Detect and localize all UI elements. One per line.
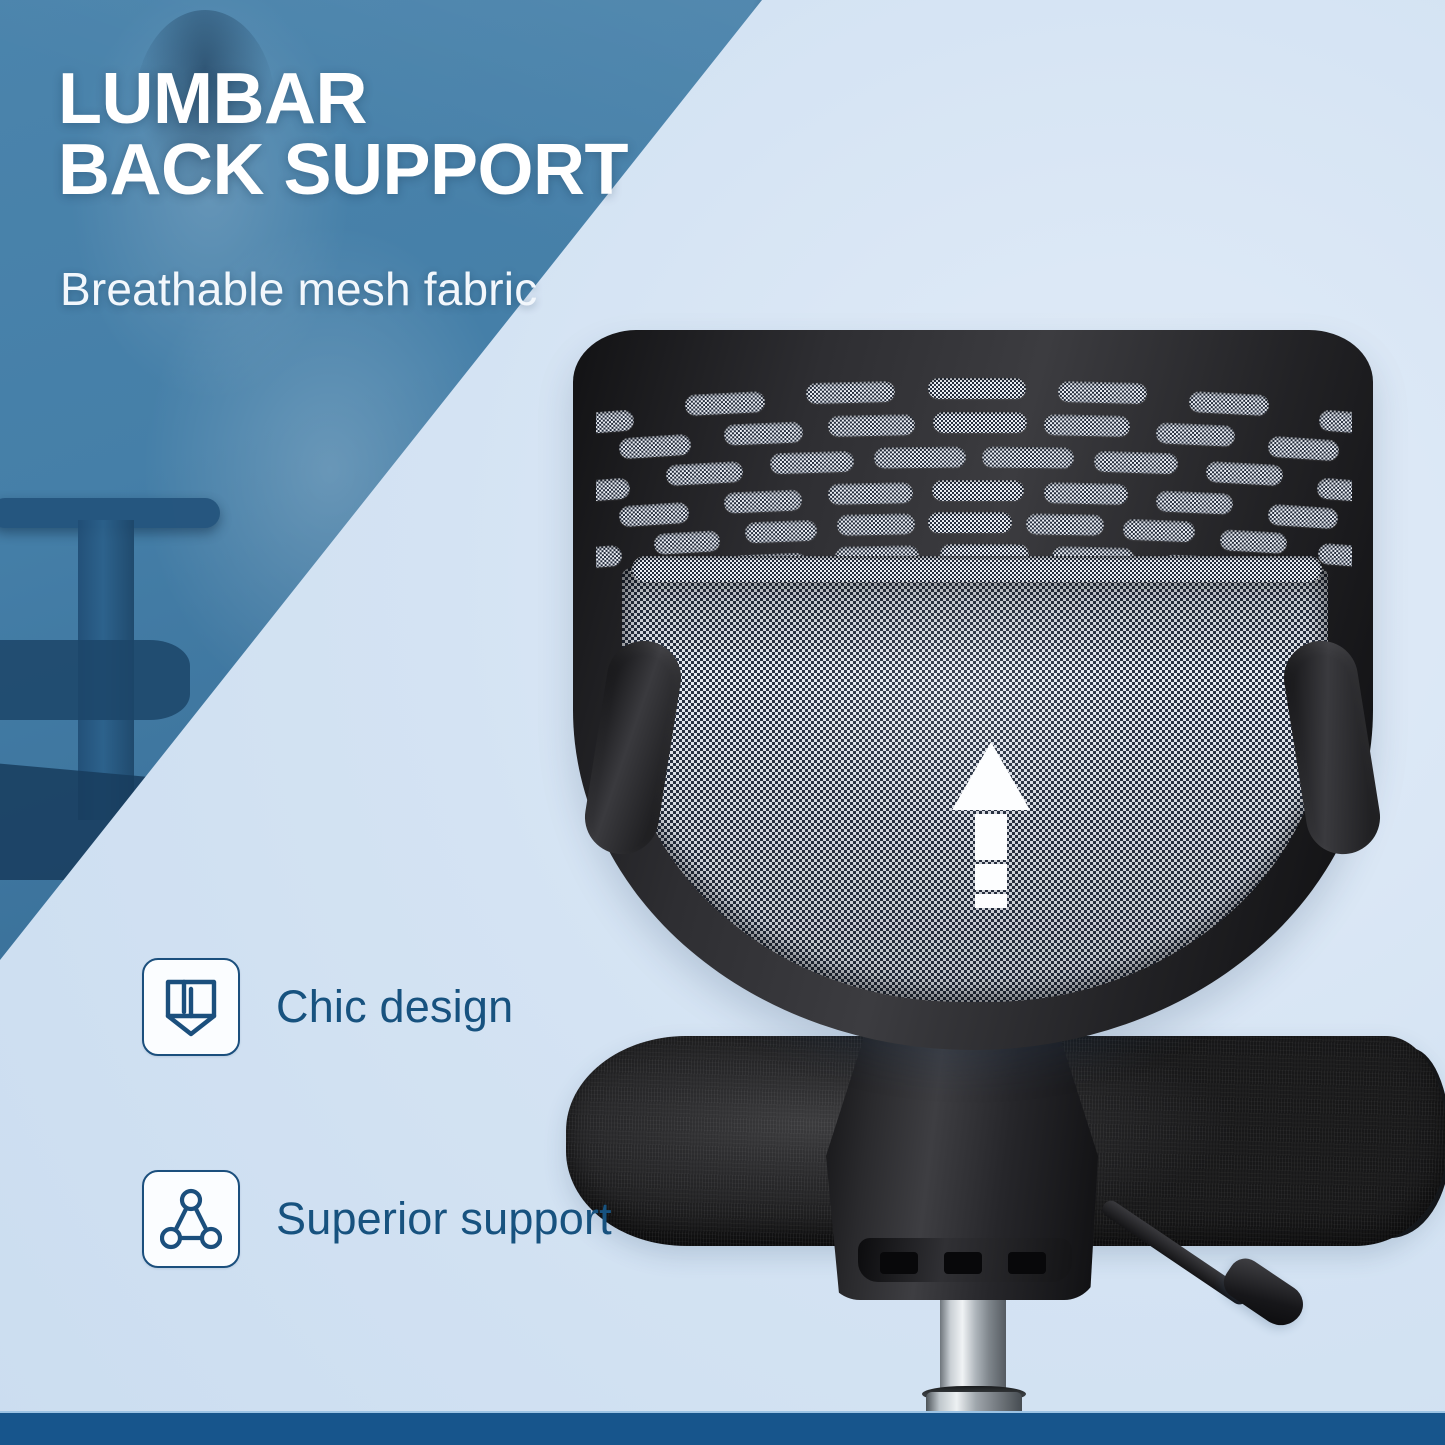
mesh-slot (828, 482, 913, 505)
mesh-slot (769, 451, 854, 475)
perforated-top-panel (596, 350, 1352, 572)
mesh-slot (1317, 543, 1352, 569)
mesh-slot (684, 391, 765, 416)
height-adjust-lever-grip[interactable] (1217, 1252, 1310, 1334)
feature-label: Superior support (276, 1193, 612, 1245)
mesh-slot (1220, 529, 1288, 554)
arrow-segment (975, 864, 1007, 890)
mesh-slot (1319, 410, 1352, 436)
triangle-network-icon (142, 1170, 240, 1268)
mesh-slot (1044, 482, 1129, 505)
arrow-head (952, 742, 1030, 810)
arrow-segment (975, 894, 1007, 908)
mesh-slot (828, 414, 915, 437)
mesh-slot (745, 519, 818, 543)
product-feature-banner: LUMBAR BACK SUPPORT Breathable mesh fabr… (0, 0, 1445, 1445)
mesh-slot (619, 502, 690, 528)
feature-item-superior-support: Superior support (142, 1170, 612, 1268)
mesh-slot (1044, 414, 1131, 437)
mesh-slot (596, 477, 631, 503)
lumbar-up-arrow-icon (948, 742, 1034, 908)
spine-vent-slot (880, 1252, 918, 1274)
mesh-slot (933, 412, 1027, 433)
mesh-slot (665, 461, 743, 486)
arrow-segment (975, 814, 1007, 860)
feature-label: Chic design (276, 981, 513, 1033)
mesh-slot (982, 446, 1074, 468)
mesh-slot (596, 544, 623, 570)
mesh-slot (1317, 477, 1352, 503)
mesh-slot (932, 480, 1024, 501)
mesh-slot (619, 434, 692, 460)
feature-item-chic-design: Chic design (142, 958, 612, 1056)
mesh-slot (723, 421, 803, 445)
mesh-slot (837, 514, 915, 537)
feature-list: Chic design Superior support (142, 958, 612, 1382)
mesh-slot (1156, 422, 1235, 447)
mesh-slot (596, 409, 635, 435)
mesh-slot (723, 489, 801, 513)
mesh-slot (874, 446, 966, 468)
bottom-brand-bar (0, 1413, 1445, 1445)
mesh-slot (806, 380, 896, 403)
mesh-slot (1058, 381, 1147, 404)
mesh-strip (632, 556, 1322, 582)
spine-vent-slot (944, 1252, 982, 1274)
mesh-slot (1205, 461, 1283, 486)
mesh-slot (1093, 451, 1178, 475)
mesh-slot (928, 512, 1012, 533)
mesh-slot (653, 530, 720, 555)
mesh-slot (1267, 503, 1338, 529)
mesh-slot (1025, 513, 1104, 535)
mesh-slot (1267, 435, 1339, 461)
mesh-slot (1188, 391, 1269, 416)
pencil-icon (142, 958, 240, 1056)
mesh-slot (1123, 519, 1196, 543)
spine-vent-slot (1008, 1252, 1046, 1274)
mesh-slot (1155, 490, 1233, 515)
mesh-slot (928, 378, 1026, 399)
